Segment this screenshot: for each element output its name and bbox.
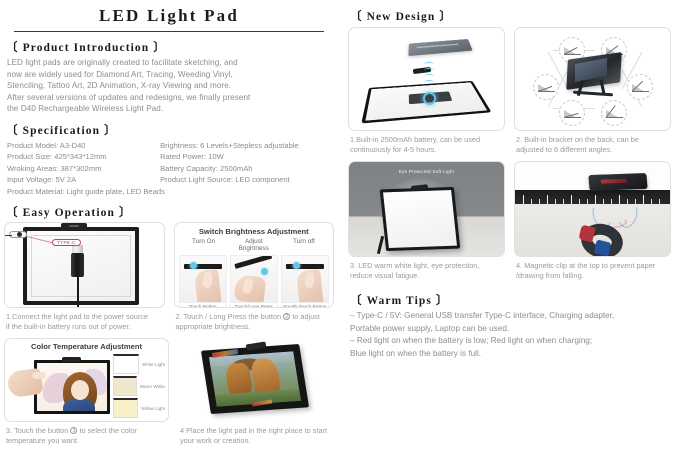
new-design-2-caption: 2. Built-in bracket on the back, can be … <box>516 135 669 154</box>
easy-operation-row-1: TYPE-C 1.Connect the light pad to the po… <box>4 222 334 331</box>
swatch-row-yellow-light: Yellow Light <box>113 398 165 418</box>
spec-input-voltage: Input Voltage: 5V 2A <box>7 174 160 185</box>
new-design-item-1: 1.Built-in 2500mAh battery, can be used … <box>348 27 505 154</box>
spec-light-source: Product Light Source: LED component <box>160 174 334 185</box>
nd-4-line-1: Magnetic clip at the top to prevent pape… <box>524 261 655 270</box>
brightness-head-adjust-line1: Adjust <box>245 238 263 245</box>
nd-3-line-2: reduce visual fatigue. <box>350 271 419 280</box>
spec-product-model: Product Model: A3-D40 <box>7 140 160 151</box>
standing-light-pad <box>380 187 461 251</box>
color-temp-illustration <box>8 352 113 420</box>
step-2-caption-line-2: appropriate brightness. <box>176 322 251 331</box>
page-title: LED Light Pad <box>4 6 334 26</box>
easy-operation-row-2: Color Temperature Adjustment <box>4 338 334 445</box>
warm-tip-line-3: – Red light on when the battery is low; … <box>350 335 671 347</box>
finger <box>304 271 315 288</box>
pad-clip-icon <box>62 357 81 362</box>
artwork-dress <box>63 400 95 414</box>
ruler-tick <box>563 199 564 204</box>
ruler-tick <box>619 195 620 204</box>
spec-column-left: Product Model: A3-D40 Product Size: 425*… <box>7 140 160 186</box>
soft-light-label: Eye Protected Soft Light <box>399 169 455 174</box>
battery-pack-illustration <box>408 39 472 56</box>
angle-baseline <box>606 117 623 118</box>
infographic-page: LED Light Pad 〔 Product Introduction 〕 L… <box>0 0 679 466</box>
spec-rated-power: Rated Power: 10W <box>160 151 334 162</box>
wave-3 <box>424 74 434 78</box>
clip-red-accent <box>601 179 627 184</box>
step-1-caption-line-1: Connect the light pad to the power sourc… <box>12 312 148 321</box>
right-column: 〔 New Design 〕 <box>340 0 679 466</box>
magnetic-clip-illustration <box>588 173 647 191</box>
new-design-item-4: 4. Magnetic clip at the top to prevent p… <box>514 161 671 280</box>
soft-light-scene: Eye Protected Soft Light <box>349 162 504 256</box>
brightness-column-heads: Turn On Adjust Brightness Turn off <box>179 238 330 253</box>
spec-column-right: Brightness: 6 Levels+Stepless adjustable… <box>160 140 334 186</box>
tilted-light-pad-illustration <box>200 343 318 417</box>
wireless-energy-waves-icon <box>421 62 437 90</box>
step-4-caption-line-2: your work or creation. <box>180 436 251 445</box>
thumbnail-touch-button <box>179 255 227 303</box>
power-button-glow-icon <box>261 268 268 275</box>
ruler-tick <box>651 199 652 204</box>
operation-step-2: Switch Brightness Adjustment Turn On Adj… <box>174 222 335 331</box>
step-2-caption-line-1: Touch / Long Press the button <box>184 312 282 321</box>
nd-2-number: 2. <box>516 135 522 144</box>
operation-step-3: Color Temperature Adjustment <box>4 338 169 445</box>
swatch-label-warm-white: Warm White <box>140 384 165 389</box>
type-c-label: TYPE-C <box>52 239 81 246</box>
step-1-caption-line-2: if the built-in battery runs out of powe… <box>6 322 131 331</box>
brightness-sub-labels: Touch Button Touch/Long Press Fourth Tou… <box>179 304 330 308</box>
angle-node-3 <box>533 74 559 100</box>
swatch-label-white-light: White Light <box>142 362 165 367</box>
circled-number-2: 2 <box>283 313 290 320</box>
step-2-caption-line-1b: to adjust <box>292 312 320 321</box>
step-2-number: 2. <box>176 312 182 321</box>
step-1-caption: 1.Connect the light pad to the power sou… <box>6 312 163 331</box>
brightness-head-turn-off: Turn off <box>279 238 329 253</box>
new-design-3-caption: 3. LED warm white light, eye protection,… <box>350 261 503 280</box>
step-3-caption-line-2: temperature you want. <box>6 436 79 445</box>
hand-illustration <box>296 269 324 303</box>
angle-baseline <box>564 54 581 55</box>
angle-node-6 <box>601 100 627 126</box>
operation-step-1: TYPE-C 1.Connect the light pad to the po… <box>4 222 165 331</box>
swatch-row-warm-white: Warm White <box>113 376 165 396</box>
operation-step-4: 4 Place the light pad in the right place… <box>178 338 334 445</box>
spec-product-size: Product Size: 425*343*12mm <box>7 151 160 162</box>
step-4-caption: 4 Place the light pad in the right place… <box>180 426 332 445</box>
brightness-head-adjust-line2: Brightness <box>239 245 269 252</box>
ruler-tick <box>539 199 540 204</box>
wave-2 <box>424 68 434 72</box>
swatch-warm-white <box>113 376 137 396</box>
brightness-panel-title: Switch Brightness Adjustment <box>179 227 330 236</box>
step-2-figure: Switch Brightness Adjustment Turn On Adj… <box>174 222 335 308</box>
sub-label-fourth-touch-button: Fourth Touch Button <box>281 304 329 308</box>
sub-label-touch-long-press: Touch/Long Press <box>230 304 278 308</box>
spec-battery-capacity: Battery Capacity: 2500mAh <box>160 163 334 174</box>
usb-connector-body <box>71 253 84 277</box>
step-2-caption: 2. Touch / Long Press the button 2 to ad… <box>176 312 333 331</box>
swatch-label-yellow-light: Yellow Light <box>141 406 165 411</box>
bracket-leg <box>377 236 384 254</box>
ruler-tick <box>531 199 532 204</box>
color-temp-body: White Light Warm White Yellow Light <box>8 352 165 420</box>
pad-edge <box>286 264 324 269</box>
step-4-number: 4 <box>180 426 184 435</box>
intro-line-5: the D40 Rechargeable Wireless Light Pad. <box>7 103 334 115</box>
ruler-tick <box>571 195 572 204</box>
battery-figure <box>348 27 505 131</box>
section-heading-warm-tips: 〔 Warm Tips 〕 <box>350 292 671 308</box>
intro-line-3: Stenciling, Tattoo Art, 2D Animation, X-… <box>7 80 334 92</box>
spec-brightness: Brightness: 6 Levels+Stepless adjustable <box>160 140 334 151</box>
finger <box>241 277 255 295</box>
pad-clip-icon <box>61 223 87 230</box>
intro-line-2: now are widely used for Diamond Art, Tra… <box>7 69 334 81</box>
wireless-coil-icon <box>423 92 436 105</box>
circled-number-3: 3 <box>70 427 77 434</box>
ruler-tick <box>643 195 644 204</box>
finger <box>202 271 213 288</box>
product-introduction-text: LED light pads are originally created to… <box>7 57 334 115</box>
specification-table: Product Model: A3-D40 Product Size: 425*… <box>7 140 334 186</box>
hexagon-angle-diagram <box>515 28 670 130</box>
section-heading-easy-operation: 〔 Easy Operation 〕 <box>6 204 334 220</box>
new-design-4-caption: 4. Magnetic clip at the top to prevent p… <box>516 261 669 280</box>
step-4-figure <box>178 338 334 422</box>
nd-3-number: 3. <box>350 261 356 270</box>
horseshoe-magnet-icon <box>581 224 623 257</box>
fairy-artwork <box>37 363 107 411</box>
ruler-tick <box>523 195 524 204</box>
angle-node-5 <box>559 100 585 126</box>
angle-baseline <box>538 91 555 92</box>
light-pad-with-artwork <box>34 360 110 414</box>
nd-1-line-2: continuously for 4-5 hours. <box>350 145 437 154</box>
warm-tips-text: – Type-C / 5V: General USB transfer Type… <box>350 310 671 360</box>
nd-1-line-1: Built-in 2500mAh battery, can be used <box>356 135 480 144</box>
ruler-tick <box>579 199 580 204</box>
section-heading-specification: 〔 Specification 〕 <box>6 122 334 138</box>
ruler-tick <box>659 199 660 204</box>
nd-2-line-2: adjusted to 6 different angles. <box>516 145 612 154</box>
magnetic-clip-figure <box>514 161 671 257</box>
spec-working-areas: Wroking Areas: 387*302mm <box>7 163 160 174</box>
step-1-figure: TYPE-C <box>4 222 165 308</box>
warm-tip-line-1: – Type-C / 5V: General USB transfer Type… <box>350 310 671 322</box>
finger <box>32 372 46 379</box>
angle-node-4 <box>627 74 653 100</box>
nd-3-line-1: LED warm white light, eye protection, <box>358 261 479 270</box>
nd-4-line-2: /drawing from falling. <box>516 271 584 280</box>
nd-2-line-1: Built-in bracket on the back, can be <box>524 135 639 144</box>
title-divider <box>14 31 324 32</box>
pad-edge <box>234 255 272 269</box>
soft-light-figure: Eye Protected Soft Light <box>348 161 505 257</box>
brightness-thumbnails <box>179 255 330 303</box>
new-design-row-2: Eye Protected Soft Light 3. LED warm whi… <box>348 161 671 280</box>
ruler-tick <box>555 199 556 204</box>
color-temperature-swatches: White Light Warm White Yellow Light <box>113 352 165 420</box>
warm-tip-line-4: Blue light on when the battery is full. <box>350 348 671 360</box>
color-temp-panel-title: Color Temperature Adjustment <box>8 342 165 351</box>
wave-4 <box>424 80 434 84</box>
new-design-item-3: Eye Protected Soft Light 3. LED warm whi… <box>348 161 505 280</box>
ruler-tick <box>587 199 588 204</box>
wave-1 <box>424 62 434 66</box>
ruler-tick <box>611 199 612 204</box>
intro-line-4: After several versions of updates and re… <box>7 92 334 104</box>
swatch-row-white-light: White Light <box>113 354 165 374</box>
new-design-row-1: 1.Built-in 2500mAh battery, can be used … <box>348 27 671 154</box>
ruler-tick <box>635 199 636 204</box>
thumbnail-fourth-touch <box>281 255 329 303</box>
hand-illustration <box>233 274 266 302</box>
left-column: LED Light Pad 〔 Product Introduction 〕 L… <box>0 0 340 466</box>
power-button-glow-icon <box>293 262 300 269</box>
step-3-figure: Color Temperature Adjustment <box>4 338 169 422</box>
hand-illustration <box>194 269 222 303</box>
ruler-tick <box>547 195 548 204</box>
step-4-caption-line-1: Place the light pad in the right place t… <box>186 426 327 435</box>
section-heading-new-design: 〔 New Design 〕 <box>350 8 671 24</box>
sub-label-touch-button: Touch Button <box>179 304 227 308</box>
angle-baseline <box>632 91 649 92</box>
horse-diamond-artwork <box>209 352 301 407</box>
port-dot <box>17 232 22 237</box>
swatch-yellow-light <box>113 398 138 418</box>
thumbnail-long-press <box>230 255 278 303</box>
new-design-item-2: 2. Built-in bracket on the back, can be … <box>514 27 671 154</box>
usb-cable <box>77 276 79 308</box>
brightness-head-turn-on: Turn On <box>179 238 229 253</box>
bracket-angles-figure <box>514 27 671 131</box>
magnet-scene <box>515 162 670 256</box>
pad-top-edge-ruler <box>515 190 670 204</box>
step-3-number: 3. <box>6 426 12 435</box>
hand-illustration <box>6 368 43 398</box>
warm-tip-line-2: Portable power supply, Laptop can be use… <box>350 323 671 335</box>
intro-line-1: LED light pads are originally created to… <box>7 57 334 69</box>
step-3-caption-line-1: Touch the button <box>14 426 68 435</box>
new-design-1-caption: 1.Built-in 2500mAh battery, can be used … <box>350 135 503 154</box>
step-3-caption: 3. Touch the button 3 to select the colo… <box>6 426 167 445</box>
step-3-caption-line-1b: to select the color <box>79 426 137 435</box>
power-button-glow-icon <box>190 262 197 269</box>
nd-4-number: 4. <box>516 261 522 270</box>
brightness-head-adjust: Adjust Brightness <box>229 238 279 253</box>
spec-product-material: Product Material: Light guide plate, LED… <box>7 186 334 197</box>
section-heading-product-introduction: 〔 Product Introduction 〕 <box>6 39 334 55</box>
swatch-white-light <box>113 354 139 374</box>
pad-on-bracket-illustration <box>567 56 623 96</box>
